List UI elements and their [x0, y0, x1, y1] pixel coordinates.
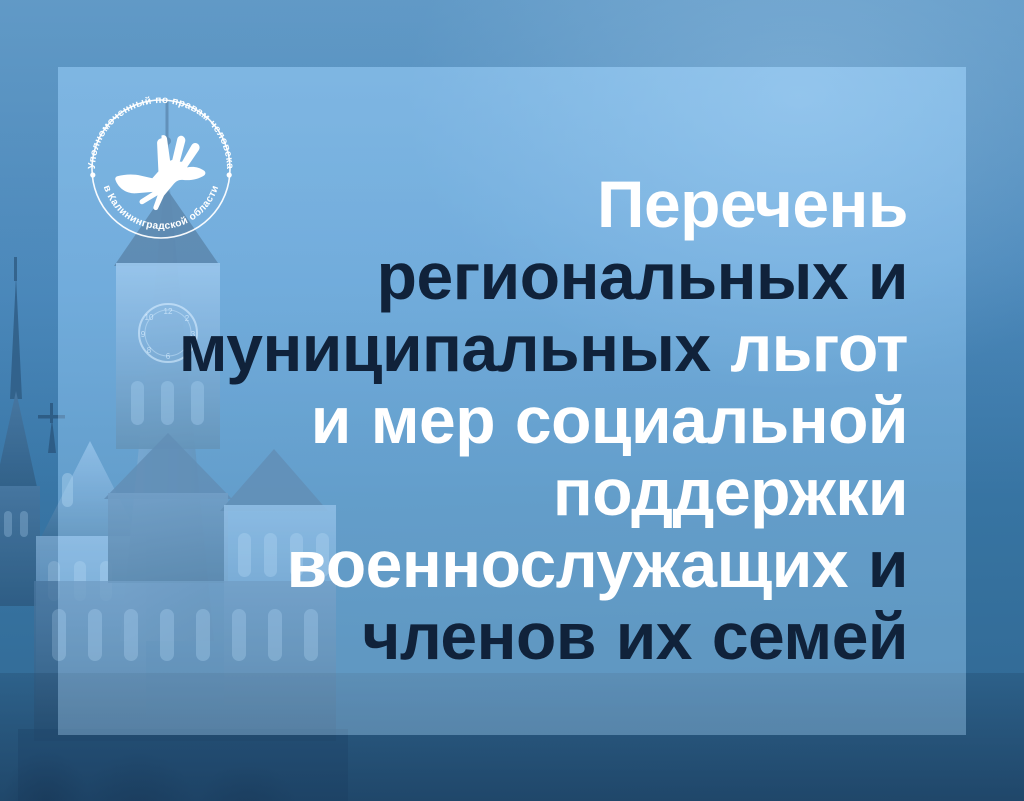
title-line-1: Перечень: [80, 168, 908, 240]
title-seg-i: и: [868, 527, 908, 601]
title-seg-chlenov-ih-semey: членов их семей: [362, 599, 908, 673]
poster-title: Перечень региональных и муниципальных ль…: [80, 168, 908, 672]
title-line-5: поддержки: [80, 456, 908, 528]
title-line-3: муниципальных льгот: [80, 312, 908, 384]
poster-canvas: 122 34 68 910: [0, 0, 1024, 801]
title-seg-regionalnyh: региональных и: [377, 239, 908, 313]
title-line-4: и мер социальной: [80, 384, 908, 456]
title-seg-lgot: льгот: [730, 311, 908, 385]
title-line-6: военнослужащих и: [80, 528, 908, 600]
title-line-7: членов их семей: [80, 600, 908, 672]
title-seg-voennosluzhashchih: военнослужащих: [287, 527, 868, 601]
title-seg-municipalnyh: муниципальных: [179, 311, 731, 385]
title-seg-i-mer-socialnoy: и мер социальной: [311, 383, 908, 457]
title-seg-perechen: Перечень: [597, 167, 908, 241]
title-line-2: региональных и: [80, 240, 908, 312]
title-seg-podderzhki: поддержки: [553, 455, 908, 529]
